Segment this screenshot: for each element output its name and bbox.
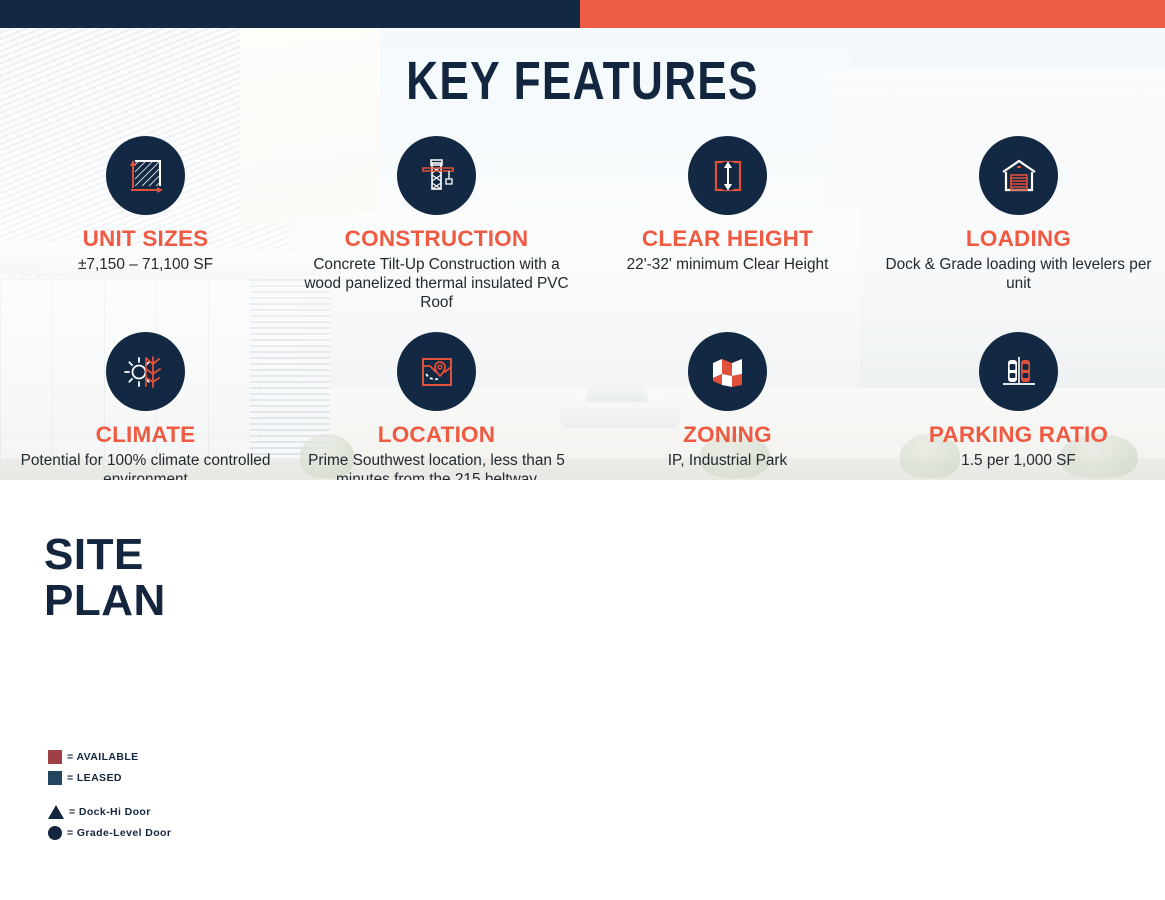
crane-icon (415, 154, 459, 198)
clear-height-icon (706, 154, 750, 198)
feature-description: IP, Industrial Park (588, 451, 868, 470)
site-plan-legend: = AVAILABLE = LEASED = Dock-Hi Door = Gr… (48, 750, 171, 847)
legend-label: = Dock-Hi Door (69, 806, 151, 818)
feature-unit-sizes: UNIT SIZES ±7,150 – 71,100 SF (0, 136, 291, 312)
feature-name: LOCATION (378, 422, 495, 448)
feature-climate: CLIMATE Potential for 100% climate contr… (0, 332, 291, 480)
feature-description: Prime Southwest location, less than 5 mi… (297, 451, 577, 480)
feature-name: CONSTRUCTION (345, 226, 529, 252)
feature-loading: LOADING Dock & Grade loading with levele… (873, 136, 1164, 312)
folded-map-icon-badge (688, 332, 767, 411)
legend-spacer (48, 792, 171, 805)
unit-sizes-icon (124, 154, 168, 198)
unit-sizes-icon-badge (106, 136, 185, 215)
key-features-section: KEY FEATURES (0, 28, 1165, 480)
feature-location: LOCATION Prime Southwest location, less … (291, 332, 582, 480)
marketing-flyer-page: KEY FEATURES (0, 0, 1165, 900)
legend-item-available: = AVAILABLE (48, 750, 171, 764)
parking-cars-icon-badge (979, 332, 1058, 411)
legend-label: = Grade-Level Door (67, 827, 171, 839)
features-row-1: UNIT SIZES ±7,150 – 71,100 SF (0, 136, 1165, 312)
site-plan-title-line1: SITE (44, 532, 166, 578)
top-bar-navy-segment (0, 0, 580, 28)
legend-item-dock-hi-door: = Dock-Hi Door (48, 805, 171, 819)
feature-description: Dock & Grade loading with levelers per u… (879, 255, 1159, 293)
map-pin-icon (415, 350, 459, 394)
grade-level-circle-icon (48, 826, 62, 840)
feature-name: CLIMATE (96, 422, 196, 448)
parking-cars-icon (996, 349, 1042, 395)
site-plan-title-line2: PLAN (44, 578, 166, 624)
legend-label: = AVAILABLE (67, 751, 139, 763)
feature-name: PARKING RATIO (929, 422, 1108, 448)
top-color-bar (0, 0, 1165, 28)
clear-height-icon-badge (688, 136, 767, 215)
feature-description: 22'-32' minimum Clear Height (588, 255, 868, 274)
feature-name: LOADING (966, 226, 1071, 252)
feature-parking-ratio: PARKING RATIO 1.5 per 1,000 SF (873, 332, 1164, 480)
page-title: KEY FEATURES (105, 50, 1060, 112)
sun-snowflake-icon-badge (106, 332, 185, 411)
folded-map-icon (706, 350, 750, 394)
top-bar-coral-segment (580, 0, 1165, 28)
legend-item-leased: = LEASED (48, 771, 171, 785)
features-grid: UNIT SIZES ±7,150 – 71,100 SF (0, 136, 1165, 480)
legend-item-grade-level-door: = Grade-Level Door (48, 826, 171, 840)
feature-description: 1.5 per 1,000 SF (879, 451, 1159, 470)
site-plan-title: SITE PLAN (44, 532, 166, 624)
feature-description: Potential for 100% climate controlled en… (6, 451, 286, 480)
crane-icon-badge (397, 136, 476, 215)
feature-name: UNIT SIZES (83, 226, 209, 252)
legend-label: = LEASED (67, 772, 122, 784)
feature-zoning: ZONING IP, Industrial Park (582, 332, 873, 480)
warehouse-loading-icon-badge (979, 136, 1058, 215)
map-pin-icon-badge (397, 332, 476, 411)
warehouse-loading-icon (997, 154, 1041, 198)
feature-name: ZONING (683, 422, 772, 448)
features-row-2: CLIMATE Potential for 100% climate contr… (0, 312, 1165, 480)
available-swatch (48, 750, 62, 764)
leased-swatch (48, 771, 62, 785)
feature-description: Concrete Tilt-Up Construction with a woo… (297, 255, 577, 312)
feature-name: CLEAR HEIGHT (642, 226, 813, 252)
site-plan-section: SITE PLAN = AVAILABLE = LEASED = Dock-Hi… (0, 480, 1165, 900)
feature-description: ±7,150 – 71,100 SF (6, 255, 286, 274)
feature-clear-height: CLEAR HEIGHT 22'-32' minimum Clear Heigh… (582, 136, 873, 312)
sun-snowflake-icon (123, 349, 169, 395)
dock-hi-triangle-icon (48, 805, 64, 819)
feature-construction: CONSTRUCTION Concrete Tilt-Up Constructi… (291, 136, 582, 312)
